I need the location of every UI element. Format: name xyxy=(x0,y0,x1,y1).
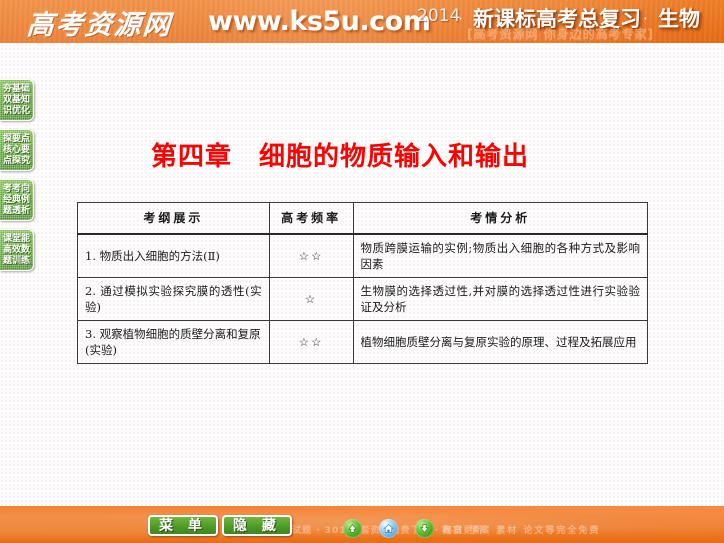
sidebar-tab-4-line-1: 课堂能 xyxy=(3,234,30,245)
sidebar-tab-4-line-3: 题训练 xyxy=(3,256,30,267)
header-subject: 生物 xyxy=(658,3,700,33)
cell-frequency-1: ☆☆ xyxy=(269,234,353,278)
sidebar-tab-1-line-2: 双基知 xyxy=(3,95,30,106)
brand-logo: 高考资源网 xyxy=(26,3,174,42)
arrow-down-icon[interactable] xyxy=(415,519,434,538)
sidebar-tab-3-line-2: 经典例 xyxy=(3,195,30,206)
table-body: 1. 物质出入细胞的方法(Ⅱ) ☆☆ 物质跨膜运输的实例;物质出入细胞的各种方式… xyxy=(78,234,648,364)
sidebar-tab-1-line-3: 识优化 xyxy=(3,106,30,117)
column-header-analysis: 考情分析 xyxy=(353,203,647,235)
header-separator-dot-left: · xyxy=(458,10,463,28)
sidebar-tab-4[interactable]: 课堂能 高效数 题训练 xyxy=(0,229,34,271)
menu-button[interactable]: 菜 单 xyxy=(148,515,218,536)
column-header-outline: 考纲展示 xyxy=(78,203,270,235)
sidebar-tab-3-line-1: 考考向 xyxy=(3,184,30,195)
cell-analysis-3: 植物细胞质壁分离与复原实验的原理、过程及拓展应用 xyxy=(353,321,647,364)
header-subtitle-watermark: [高考资源网 你身边的高考专家] xyxy=(467,25,654,42)
exam-outline-table: 考纲展示 高考频率 考情分析 1. 物质出入细胞的方法(Ⅱ) ☆☆ 物质跨膜运输… xyxy=(77,202,648,364)
table-row: 2. 通过模拟实验探究膜的透性(实验) ☆ 生物膜的选择透过性,并对膜的选择透过… xyxy=(78,278,648,321)
table-row: 3. 观察植物细胞的质壁分离和复原(实验) ☆☆ 植物细胞质壁分离与复原实验的原… xyxy=(78,321,648,364)
column-header-frequency: 高考频率 xyxy=(269,203,353,235)
brand-url[interactable]: www.ks5u.com xyxy=(208,6,430,37)
cell-frequency-3: ☆☆ xyxy=(269,321,353,364)
header-year: 2014 xyxy=(417,6,460,26)
footer-tail-text: 教案 学案 素材 论文等完全免费 xyxy=(442,523,600,536)
arrow-up-icon[interactable] xyxy=(343,519,362,538)
slide-canvas: 夯基础 双基知 识优化 探要点 核心要 点探究 考考向 经典例 题透析 课堂能 … xyxy=(0,43,724,506)
sidebar-tab-4-line-2: 高效数 xyxy=(3,245,30,256)
footer-bar: 菜 单 隐 藏 试题 · 301 万套资源免费下载 · 每日更新 教案 学案 素… xyxy=(0,506,724,543)
sidebar-tab-3[interactable]: 考考向 经典例 题透析 xyxy=(0,179,34,221)
sidebar-tab-3-line-3: 题透析 xyxy=(3,206,30,217)
cell-outline-2: 2. 通过模拟实验探究膜的透性(实验) xyxy=(78,278,270,321)
table-header-row: 考纲展示 高考频率 考情分析 xyxy=(78,203,648,235)
sidebar-tab-1-line-1: 夯基础 xyxy=(3,84,30,95)
page-title: 第四章 细胞的物质输入和输出 xyxy=(0,136,680,173)
cell-analysis-1: 物质跨膜运输的实例;物质出入细胞的各种方式及影响因素 xyxy=(353,234,647,278)
sidebar-tab-1[interactable]: 夯基础 双基知 识优化 xyxy=(0,79,34,121)
hide-button[interactable]: 隐 藏 xyxy=(222,515,292,536)
cell-analysis-2: 生物膜的选择透过性,并对膜的选择透过性进行实验验证及分析 xyxy=(353,278,647,321)
home-icon[interactable] xyxy=(379,519,398,538)
cell-outline-1: 1. 物质出入细胞的方法(Ⅱ) xyxy=(78,234,270,278)
table-row: 1. 物质出入细胞的方法(Ⅱ) ☆☆ 物质跨膜运输的实例;物质出入细胞的各种方式… xyxy=(78,234,648,278)
cell-outline-3: 3. 观察植物细胞的质壁分离和复原(实验) xyxy=(78,321,270,364)
cell-frequency-2: ☆ xyxy=(269,278,353,321)
table-head: 考纲展示 高考频率 考情分析 xyxy=(78,203,648,235)
slide-root: 高考资源网 www.ks5u.com 2014 · 新课标高考总复习 · 生物 … xyxy=(0,0,724,543)
header-bar: 高考资源网 www.ks5u.com 2014 · 新课标高考总复习 · 生物 … xyxy=(0,0,724,43)
